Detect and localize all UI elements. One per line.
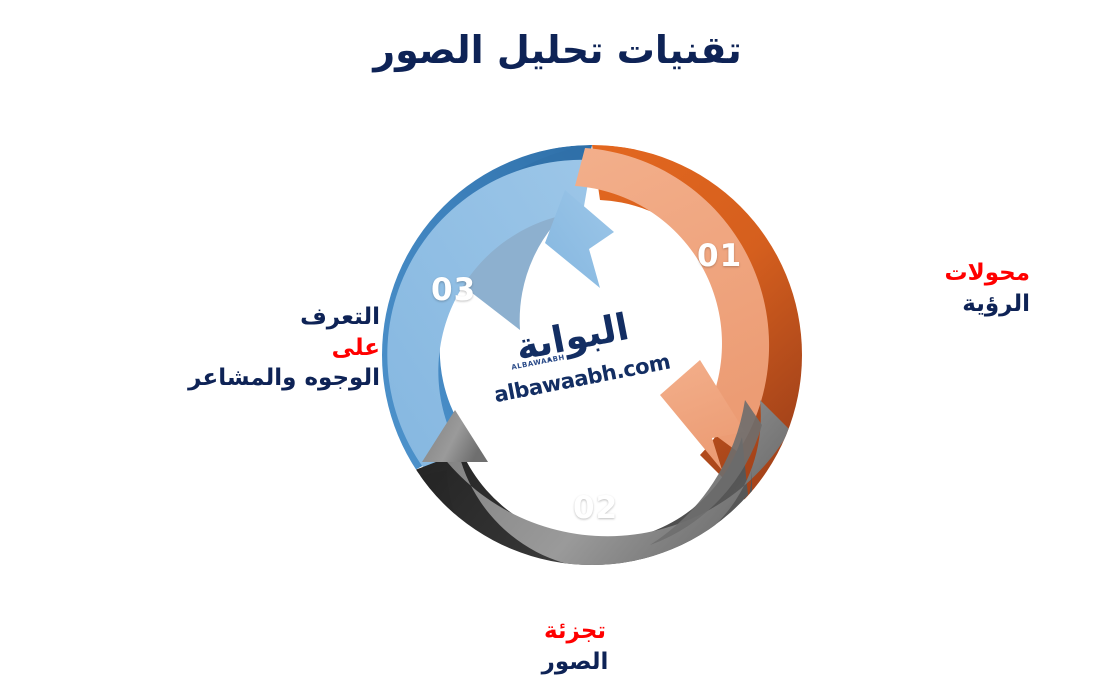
step-number-02: 02 xyxy=(573,490,618,526)
step-number-03: 03 xyxy=(431,272,476,308)
callout-label-01: محولات الرؤية xyxy=(800,228,1030,319)
callout-03-lead: التعرف xyxy=(300,304,380,330)
callout-02-accent: تجزئة xyxy=(544,618,606,644)
callout-02-main: الصور xyxy=(542,649,609,675)
callout-01-main: الرؤية xyxy=(962,291,1030,317)
callout-01-accent: محولات xyxy=(945,260,1030,286)
callout-label-02: تجزئة الصور xyxy=(430,586,720,677)
callout-03-tail: الوجوه والمشاعر xyxy=(188,365,380,391)
infographic-diagram: 01 02 03 البوابة ALBAWAABH albawaabh.com… xyxy=(0,0,1115,659)
step-number-01: 01 xyxy=(697,238,742,274)
callout-03-accent: على xyxy=(332,335,380,361)
callout-label-03: التعرف على الوجوه والمشاعر xyxy=(80,272,380,393)
